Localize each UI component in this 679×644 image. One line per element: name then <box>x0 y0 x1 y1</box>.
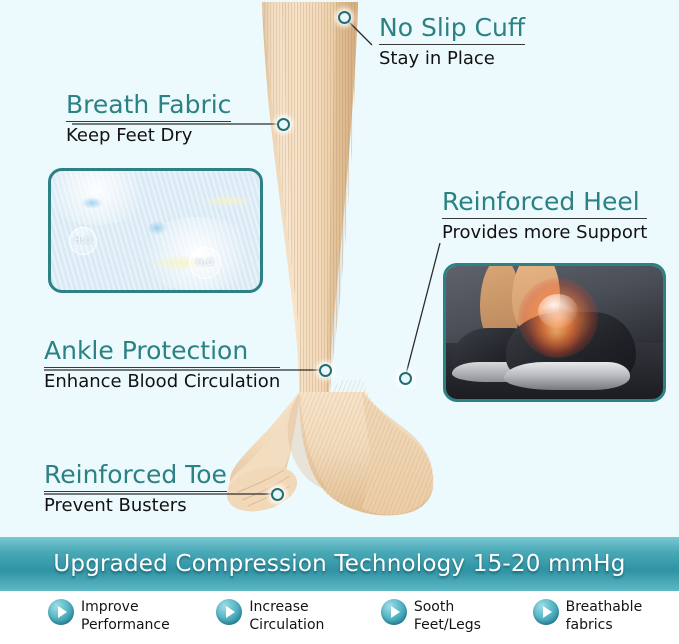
marker-reinforced-toe <box>271 488 284 501</box>
play-circle-icon <box>216 599 242 625</box>
moisture-droplet-label: H₂O <box>69 227 97 255</box>
fabric-blue-fiber <box>147 221 167 235</box>
marker-breath-fabric <box>277 118 290 131</box>
product-stage: No Slip Cuff Stay in Place Breath Fabric… <box>0 0 679 537</box>
heel-photo-front-sole <box>504 362 630 390</box>
benefit-line-1: Increase <box>249 599 308 615</box>
callout-title: No Slip Cuff <box>379 14 525 42</box>
callout-subtitle: Keep Feet Dry <box>66 125 231 146</box>
callout-rule <box>44 491 227 492</box>
infographic-root: No Slip Cuff Stay in Place Breath Fabric… <box>0 0 679 644</box>
callout-subtitle: Provides more Support <box>442 222 647 243</box>
fabric-blue-fiber <box>81 197 103 209</box>
benefit-line-2: Circulation <box>249 617 324 633</box>
callout-subtitle: Stay in Place <box>379 48 525 69</box>
benefit-label: Sooth Feet/Legs <box>414 598 481 634</box>
play-circle-icon <box>533 599 559 625</box>
callout-title: Ankle Protection <box>44 337 280 365</box>
marker-no-slip-cuff <box>338 11 351 24</box>
benefit-item: Breathable fabrics <box>519 591 679 634</box>
benefit-line-1: Breathable <box>566 599 643 615</box>
benefit-label: Increase Circulation <box>249 598 324 634</box>
callout-reinforced-heel: Reinforced Heel Provides more Support <box>442 188 647 243</box>
callout-rule <box>379 44 525 45</box>
inset-heel-support <box>443 263 666 402</box>
callout-title: Breath Fabric <box>66 91 231 119</box>
marker-ankle-protection <box>319 364 332 377</box>
banner-text: Upgraded Compression Technology 15-20 mm… <box>53 551 625 577</box>
callout-subtitle: Prevent Busters <box>44 495 227 516</box>
callout-reinforced-toe: Reinforced Toe Prevent Busters <box>44 461 227 516</box>
moisture-droplet-label: H₂O <box>189 247 221 279</box>
benefit-line-1: Sooth <box>414 599 454 615</box>
play-circle-icon <box>381 599 407 625</box>
callout-breath-fabric: Breath Fabric Keep Feet Dry <box>66 91 231 146</box>
marker-reinforced-heel <box>399 372 412 385</box>
benefit-label: Breathable fabrics <box>566 598 643 634</box>
callout-rule <box>442 218 647 219</box>
callout-ankle-protection: Ankle Protection Enhance Blood Circulati… <box>44 337 280 392</box>
benefit-item: Sooth Feet/Legs <box>363 591 519 634</box>
callout-subtitle: Enhance Blood Circulation <box>44 371 280 392</box>
callout-rule <box>44 367 280 368</box>
callout-title: Reinforced Heel <box>442 188 647 216</box>
benefit-line-2: fabrics <box>566 617 613 633</box>
ankle-joint-glow <box>532 306 580 358</box>
benefit-line-1: Improve <box>81 599 139 615</box>
benefit-item: Increase Circulation <box>194 591 362 634</box>
benefits-row: Improve Performance Increase Circulation… <box>0 591 679 644</box>
benefit-line-2: Feet/Legs <box>414 617 481 633</box>
inset-fabric-macro: H₂O H₂O <box>48 168 263 293</box>
play-circle-icon <box>48 599 74 625</box>
callout-title: Reinforced Toe <box>44 461 227 489</box>
benefit-item: Improve Performance <box>0 591 194 634</box>
compression-banner: Upgraded Compression Technology 15-20 mm… <box>0 537 679 591</box>
benefit-label: Improve Performance <box>81 598 170 634</box>
callout-rule <box>66 121 231 122</box>
benefit-line-2: Performance <box>81 617 170 633</box>
fabric-yellow-fiber <box>201 195 255 207</box>
callout-no-slip-cuff: No Slip Cuff Stay in Place <box>379 14 525 69</box>
